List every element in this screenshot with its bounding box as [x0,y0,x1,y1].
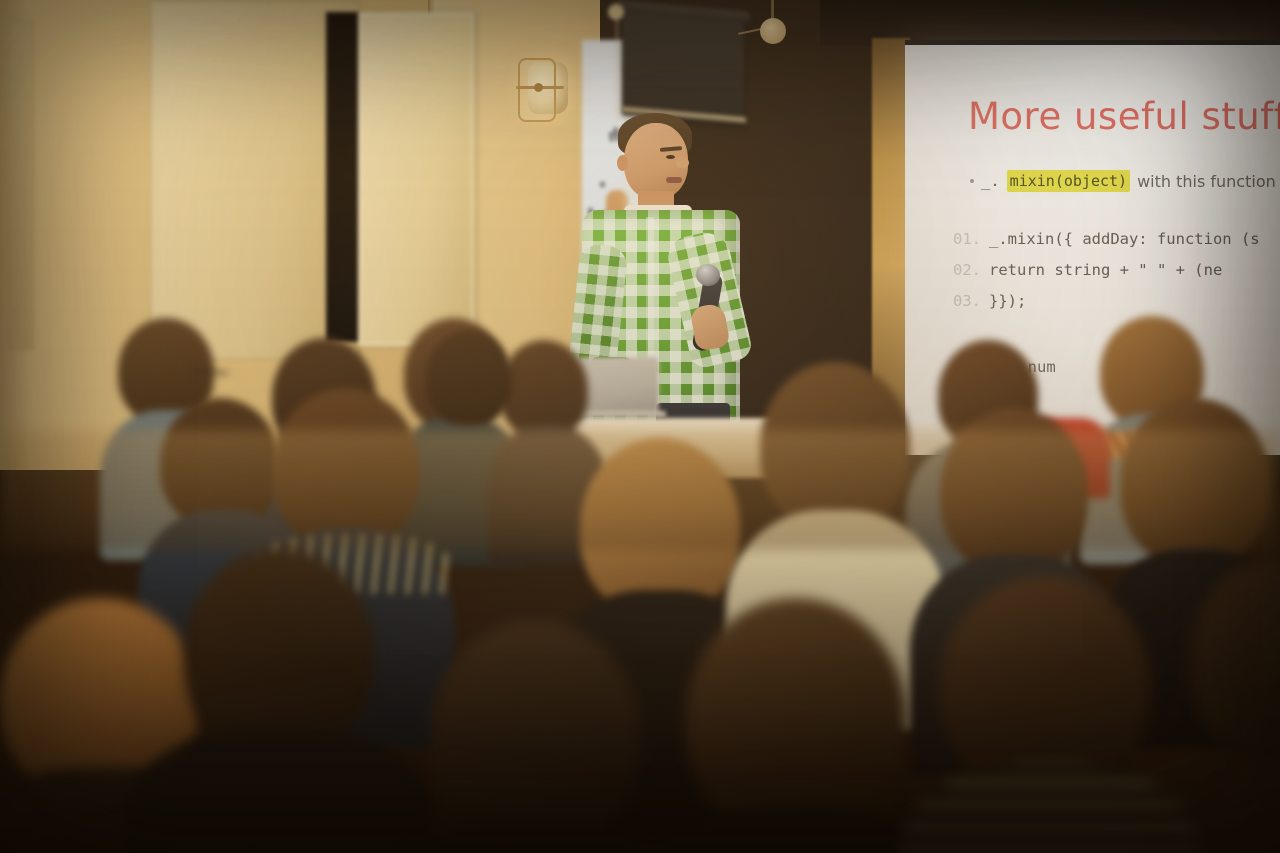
presentation-photo: еэr with рd More useful stuff _. [0,0,1280,853]
presenter-eye [666,155,675,159]
presenter-nose [676,157,689,168]
audience-head [430,620,640,850]
lamp-nut [534,83,543,92]
audience-head [686,598,906,838]
ceiling-light [760,18,786,44]
apple-logo-icon [611,377,626,394]
door-opening-gap [326,12,362,342]
audience-head [184,548,374,758]
audience-head [426,330,512,426]
audience-head [500,340,588,440]
ceiling-light-stem [771,0,774,20]
presenter-ear [617,155,628,171]
side-window [8,20,34,350]
glass-door-leaf[interactable]: еэr with рd [358,12,474,346]
audience-torso [900,762,1200,853]
floor-glow [0,430,1280,550]
presenter-mouth [666,177,682,183]
door-frame: еэr with рd [150,0,360,360]
